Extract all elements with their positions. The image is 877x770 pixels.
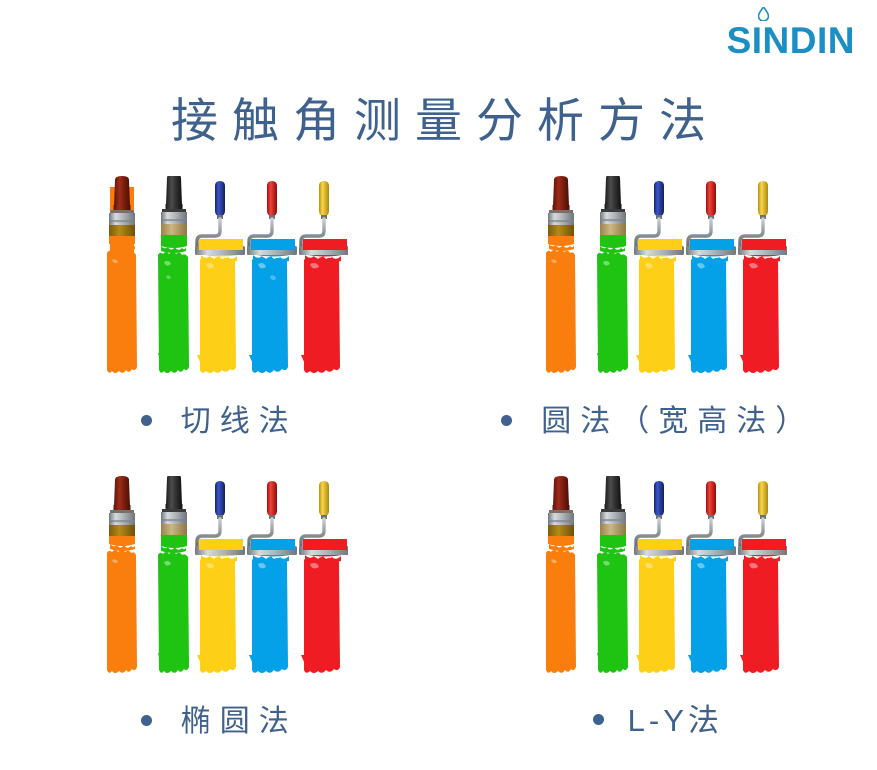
bullet-icon [141,715,152,726]
page-title: 接触角测量分析方法 [0,82,877,151]
paint-artwork-laplace-young [529,476,787,691]
methods-grid: 切线法 [0,168,877,768]
bullet-icon [141,415,152,426]
method-cell-circle[interactable]: 圆法（宽高法） [439,168,877,468]
method-label-ellipse: 椭圆法 [172,696,298,740]
caption-tangent: 切线法 [0,396,439,440]
method-label-circle: 圆法（宽高法） [532,396,814,440]
water-drop-icon [758,7,769,21]
paint-artwork-tangent [90,176,348,391]
method-cell-ellipse[interactable]: 椭圆法 [0,468,439,768]
method-label-tangent: 切线法 [172,396,298,440]
paint-artwork-ellipse [90,476,348,691]
paint-artwork-circle [529,176,787,391]
caption-laplace-young: L-Y法 [439,695,877,740]
caption-circle: 圆法（宽高法） [439,396,877,440]
method-label-laplace-young: L-Y法 [624,695,723,740]
slide-canvas: SINDIN 接触角测量分析方法 [0,0,877,770]
method-cell-laplace-young[interactable]: L-Y法 [439,468,877,768]
logo-text: SINDIN [727,20,855,61]
caption-ellipse: 椭圆法 [0,696,439,740]
method-cell-tangent[interactable]: 切线法 [0,168,439,468]
sindin-logo: SINDIN [727,22,855,59]
bullet-icon [593,714,604,725]
bullet-icon [501,415,512,426]
logo-wordmark: SINDIN [727,22,855,59]
